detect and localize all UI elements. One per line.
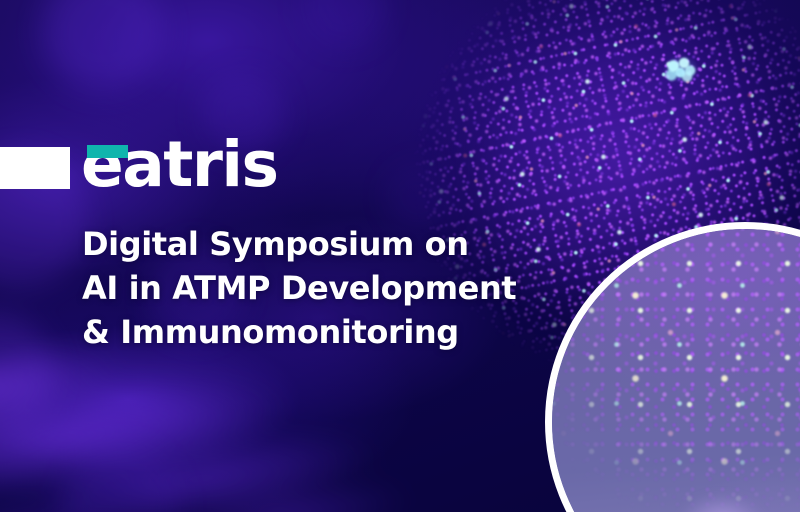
title-line-1: Digital Symposium on [82,222,602,266]
cyan-cell-cluster-icon [662,54,700,84]
logo-rectangle-mark [0,147,70,189]
title-line-3: & Immunomonitoring [82,310,602,354]
event-title: Digital Symposium on AI in ATMP Developm… [82,222,602,354]
event-banner: eatris Digital Symposium on AI in ATMP D… [0,0,800,512]
logo-wordmark: eatris [81,133,278,199]
logo-teal-crossbar-icon [87,145,128,158]
eatris-logo[interactable]: eatris [0,130,278,202]
title-line-2: AI in ATMP Development [82,266,602,310]
